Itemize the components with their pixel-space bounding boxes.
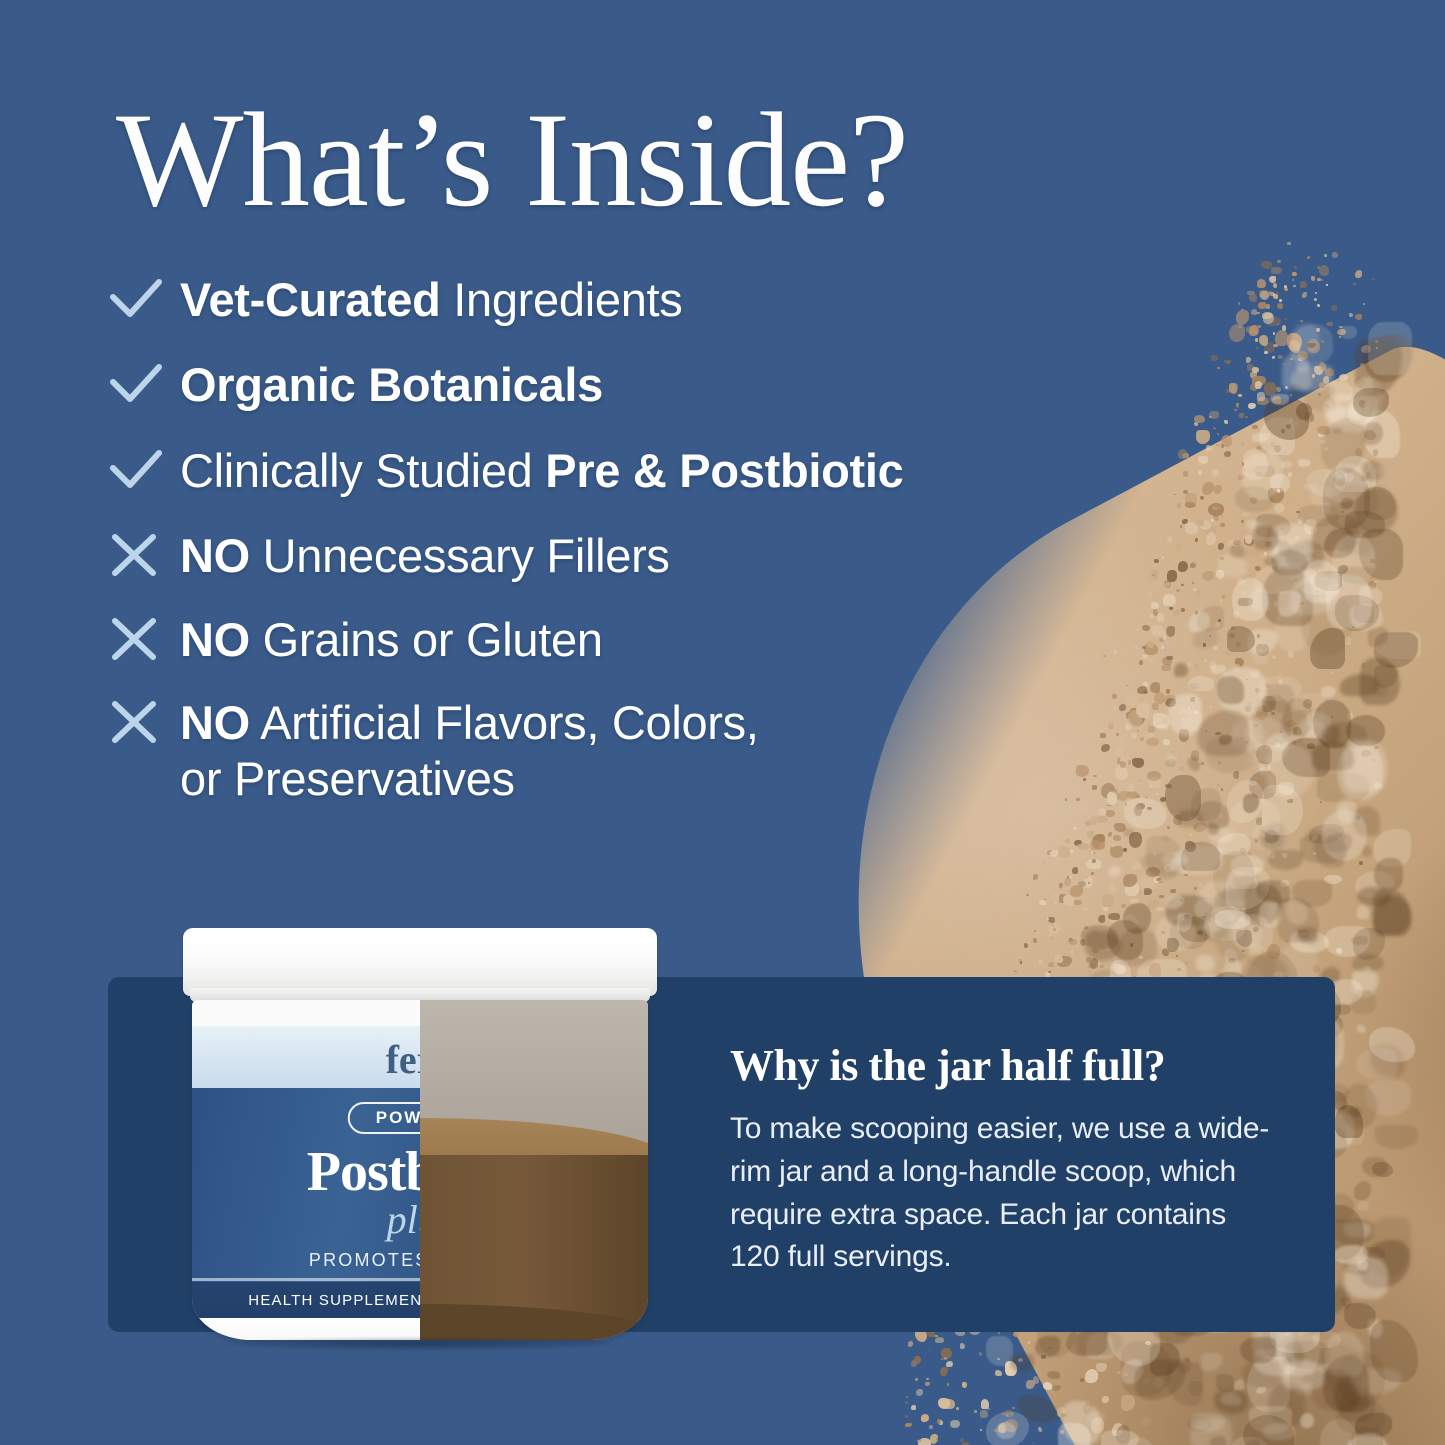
x-icon xyxy=(108,695,180,745)
list-item-rest: Artificial Flavors, Colors,or Preservati… xyxy=(180,696,759,804)
info-card-title: Why is the jar half full? xyxy=(730,1042,1270,1090)
x-icon xyxy=(108,528,180,578)
list-item: Vet-Curated Ingredients xyxy=(108,272,1118,327)
list-item-lead: NO xyxy=(180,696,250,749)
feature-list: Vet-Curated Ingredients Organic Botanica… xyxy=(108,272,1118,836)
list-item-label: NO Grains or Gluten xyxy=(180,612,603,667)
list-item: NO Unnecessary Fillers xyxy=(108,528,1118,583)
list-item-label: Vet-Curated Ingredients xyxy=(180,272,683,327)
list-item-rest: Pre & Postbiotic xyxy=(545,444,903,497)
list-item-rest: Unnecessary Fillers xyxy=(250,529,670,582)
list-item-lead: NO xyxy=(180,529,250,582)
jar-body: fera POWDER Postbiotic plus PROMOTES OPT… xyxy=(192,1000,648,1340)
list-item: NO Artificial Flavors, Colors,or Preserv… xyxy=(108,695,1118,806)
info-card-text: Why is the jar half full? To make scoopi… xyxy=(730,1042,1270,1279)
list-item: NO Grains or Gluten xyxy=(108,612,1118,667)
list-item: Organic Botanicals xyxy=(108,357,1118,412)
jar-lid xyxy=(183,928,657,996)
x-icon xyxy=(108,612,180,662)
check-icon xyxy=(108,272,180,322)
list-item-label: Organic Botanicals xyxy=(180,357,603,412)
list-item: Clinically Studied Pre & Postbiotic xyxy=(108,443,1118,498)
jar-drop-shadow xyxy=(208,1336,632,1352)
info-card-body: To make scooping easier, we use a wide-r… xyxy=(730,1108,1270,1278)
list-item-lead: NO xyxy=(180,613,250,666)
list-item-label: NO Unnecessary Fillers xyxy=(180,528,670,583)
list-item-lead: Vet-Curated xyxy=(180,273,440,326)
check-icon xyxy=(108,443,180,493)
check-icon xyxy=(108,357,180,407)
list-item-rest: Grains or Gluten xyxy=(250,613,603,666)
jar-cross-section xyxy=(420,1000,648,1340)
list-item-lead: Clinically Studied xyxy=(180,444,545,497)
list-item-rest: Ingredients xyxy=(440,273,682,326)
product-jar-cutaway: fera POWDER Postbiotic plus PROMOTES OPT… xyxy=(178,928,662,1368)
page-title: What’s Inside? xyxy=(116,92,908,230)
list-item-lead: Organic Botanicals xyxy=(180,358,603,411)
list-item-label: NO Artificial Flavors, Colors,or Preserv… xyxy=(180,695,759,806)
marketing-image-canvas: What’s Inside? Vet-Curated Ingredients O… xyxy=(0,0,1445,1445)
list-item-label: Clinically Studied Pre & Postbiotic xyxy=(180,443,903,498)
